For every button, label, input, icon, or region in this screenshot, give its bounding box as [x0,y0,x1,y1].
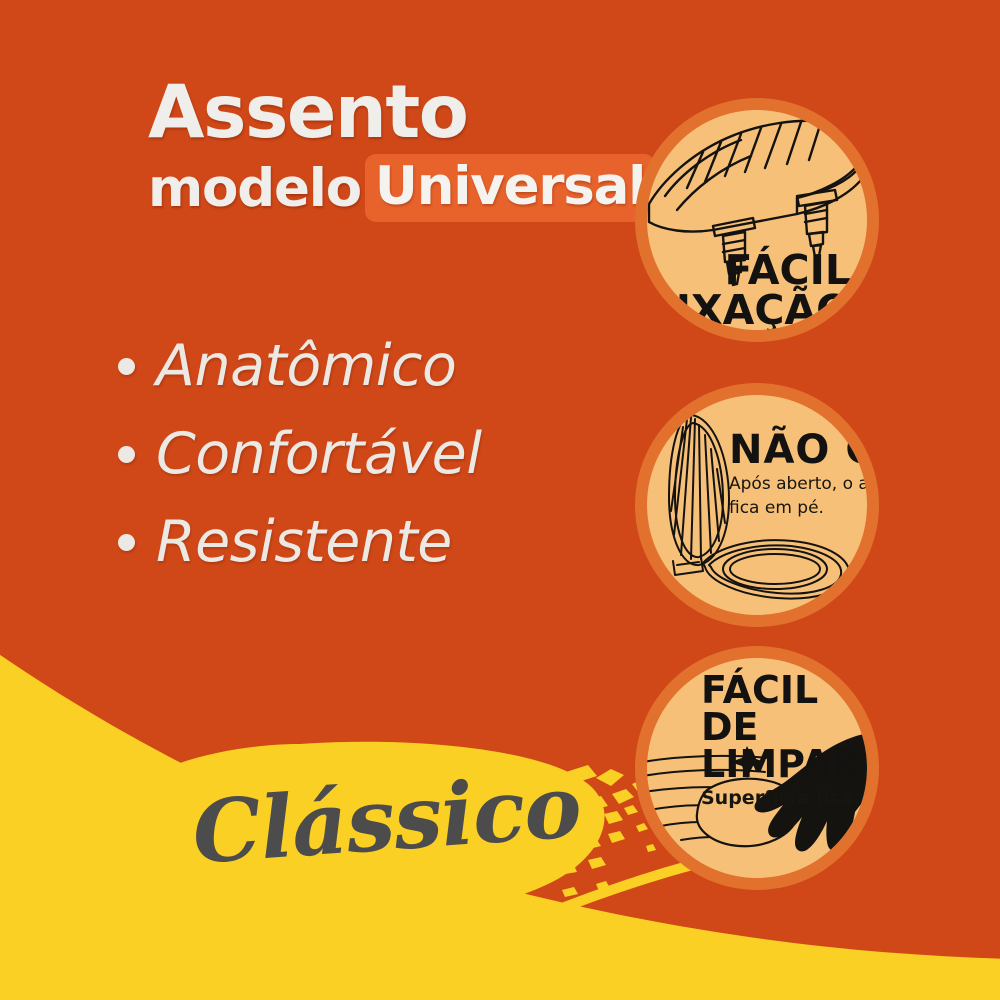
badge-title-line1: FÁCIL DE [701,672,867,746]
feature-list: Anatômico Confortável Resistente [118,322,482,586]
feature-label: Resistente [156,514,452,571]
title-main: Assento [148,78,648,148]
badge-subtitle: Superfície lisa. [701,788,867,809]
badge-title-line1: FÁCIL [648,250,851,290]
badge-title-line2: LIMPAR [701,746,867,783]
badge-subtitle-line1: Após aberto, o assento [729,475,867,494]
badge-facil-de-limpar: FÁCIL DE LIMPAR Superfície lisa. [635,646,879,890]
product-poster: Assento modelo Universal Anatômico Confo… [0,0,1000,1000]
bullet-dot-icon [118,534,135,551]
badge-facil-fixacao: FÁCIL FIXAÇÃO [635,98,879,342]
bullet-dot-icon [118,358,135,375]
list-item: Anatômico [118,322,482,410]
badge-title-line1: NÃO CAI [729,431,867,470]
list-item: Resistente [118,498,482,586]
badge-face: FÁCIL DE LIMPAR Superfície lisa. [647,658,867,878]
badge-subtitle-line2: fica em pé. [729,499,867,518]
bullet-dot-icon [118,446,135,463]
badge-face: NÃO CAI Após aberto, o assento fica em p… [647,395,867,615]
badge-title-line2: FIXAÇÃO [648,290,851,330]
subtitle-highlight-badge: Universal [365,154,655,222]
badge-text-block: FÁCIL FIXAÇÃO [648,250,851,330]
badge-face: FÁCIL FIXAÇÃO [647,110,867,330]
feature-label: Anatômico [156,338,456,395]
badge-text-block: FÁCIL DE LIMPAR Superfície lisa. [701,672,867,809]
subtitle-prefix: modelo [148,162,361,215]
list-item: Confortável [118,410,482,498]
badge-nao-cai: NÃO CAI Após aberto, o assento fica em p… [635,383,879,627]
feature-label: Confortável [156,426,482,483]
badge-text-block: NÃO CAI Após aberto, o assento fica em p… [729,431,867,518]
subtitle-row: modelo Universal [148,154,648,222]
headline-block: Assento modelo Universal [148,78,648,222]
